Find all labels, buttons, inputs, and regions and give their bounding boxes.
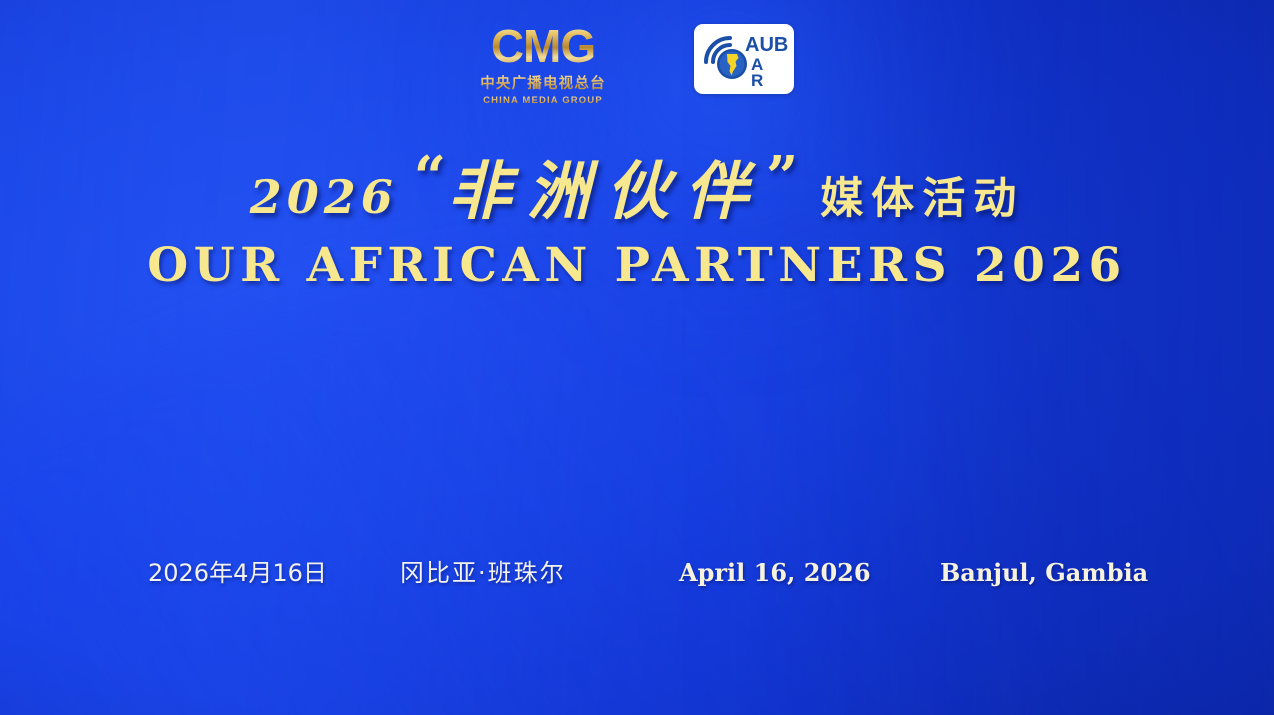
aub-ara-logo: AUB A R [694, 24, 794, 94]
background-vignette [0, 0, 1274, 715]
title-chinese-core: 非洲伙伴 [446, 154, 766, 228]
footer-place-en: Banjul, Gambia [940, 552, 1148, 594]
title-chinese-year: 2026 [250, 170, 414, 224]
aub-letters-line1: AUB [745, 34, 788, 56]
title-chinese-quote-open: “ [414, 144, 446, 210]
globe-icon [717, 49, 747, 79]
cmg-name-cn: 中央广播电视总台 [480, 72, 606, 93]
logo-row: CMG 中央广播电视总台 CHINA MEDIA GROUP AUB [0, 24, 1274, 106]
footer-place-cn: 冈比亚·班珠尔 [400, 552, 566, 594]
footer-date-en: April 16, 2026 [679, 552, 871, 594]
footer-date-cn: 2026年4月16日 [148, 552, 327, 594]
cmg-wordmark-text: CMG [489, 24, 597, 69]
footer-meta-row: 2026年4月16日 冈比亚·班珠尔 April 16, 2026 Banjul… [0, 552, 1274, 594]
title-chinese-tail: 媒体活动 [798, 174, 1024, 224]
title-english: OUR AFRICAN PARTNERS 2026 [0, 238, 1274, 293]
title-chinese: 2026“非洲伙伴”媒体活动 [0, 146, 1274, 226]
cmg-logo: CMG 中央广播电视总台 CHINA MEDIA GROUP [480, 24, 606, 106]
event-key-visual: CMG 中央广播电视总台 CHINA MEDIA GROUP AUB [0, 0, 1274, 715]
title-chinese-quote-close: ” [766, 144, 798, 210]
aub-ara-logo-graphic: AUB A R [700, 30, 788, 88]
aub-letters-line3: R [751, 71, 763, 88]
cmg-name-en: CHINA MEDIA GROUP [483, 95, 603, 106]
title-block: 2026“非洲伙伴”媒体活动 OUR AFRICAN PARTNERS 2026 [0, 146, 1274, 293]
aub-ara-letters: AUB A R [745, 34, 788, 88]
